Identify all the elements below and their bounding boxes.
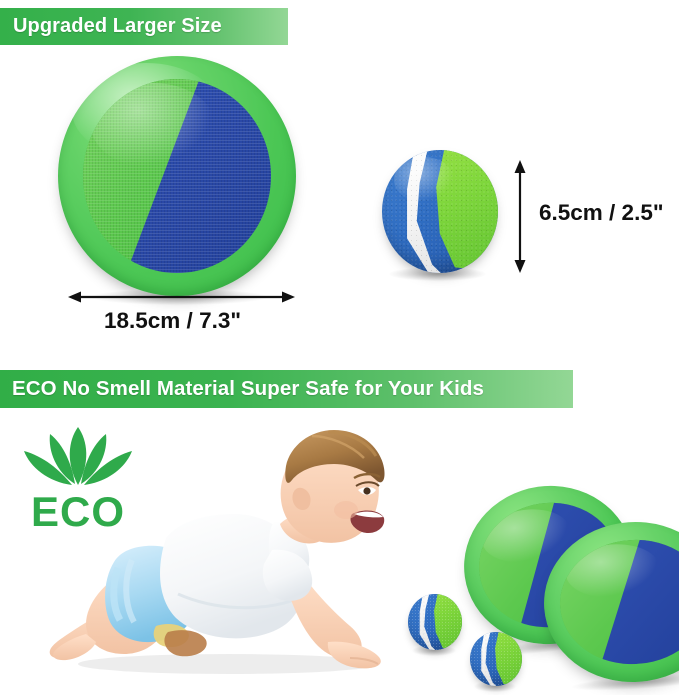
product-group-image: [404, 484, 676, 682]
paddle-front: [539, 516, 679, 688]
ball-small-left-sphere: [408, 594, 462, 650]
infographic-canvas: Upgraded Larger Size 18.5cm / 7.3": [0, 0, 679, 684]
banner-eco-label: ECO No Smell Material Super Safe for You…: [12, 377, 484, 401]
baby-crawling-photo: [28, 418, 400, 680]
ball-small-right-grain: [470, 632, 522, 686]
banner-upgraded-label: Upgraded Larger Size: [13, 15, 222, 38]
paddle-face-highlight: [91, 83, 215, 169]
ball-small-left: [408, 594, 462, 650]
banner-eco-no-smell: ECO No Smell Material Super Safe for You…: [0, 370, 573, 408]
paddle-front-face: [556, 535, 679, 670]
ball-highlight: [394, 157, 454, 201]
dimension-label-paddle-width: 18.5cm / 7.3": [104, 308, 241, 334]
dimension-arrow-horizontal: [68, 290, 295, 304]
ball-large-sphere: [382, 150, 498, 273]
ball-large-image: [382, 150, 498, 273]
dimension-arrow-vertical: [512, 160, 528, 273]
ball-small-right-sphere: [470, 632, 522, 686]
paddle-large-face: [83, 79, 271, 273]
banner-upgraded-larger-size: Upgraded Larger Size: [0, 8, 288, 45]
ball-small-right: [470, 632, 522, 686]
dimension-label-ball-height: 6.5cm / 2.5": [539, 200, 664, 226]
ball-small-left-grain: [408, 594, 462, 650]
paddle-large-image: [58, 56, 296, 296]
